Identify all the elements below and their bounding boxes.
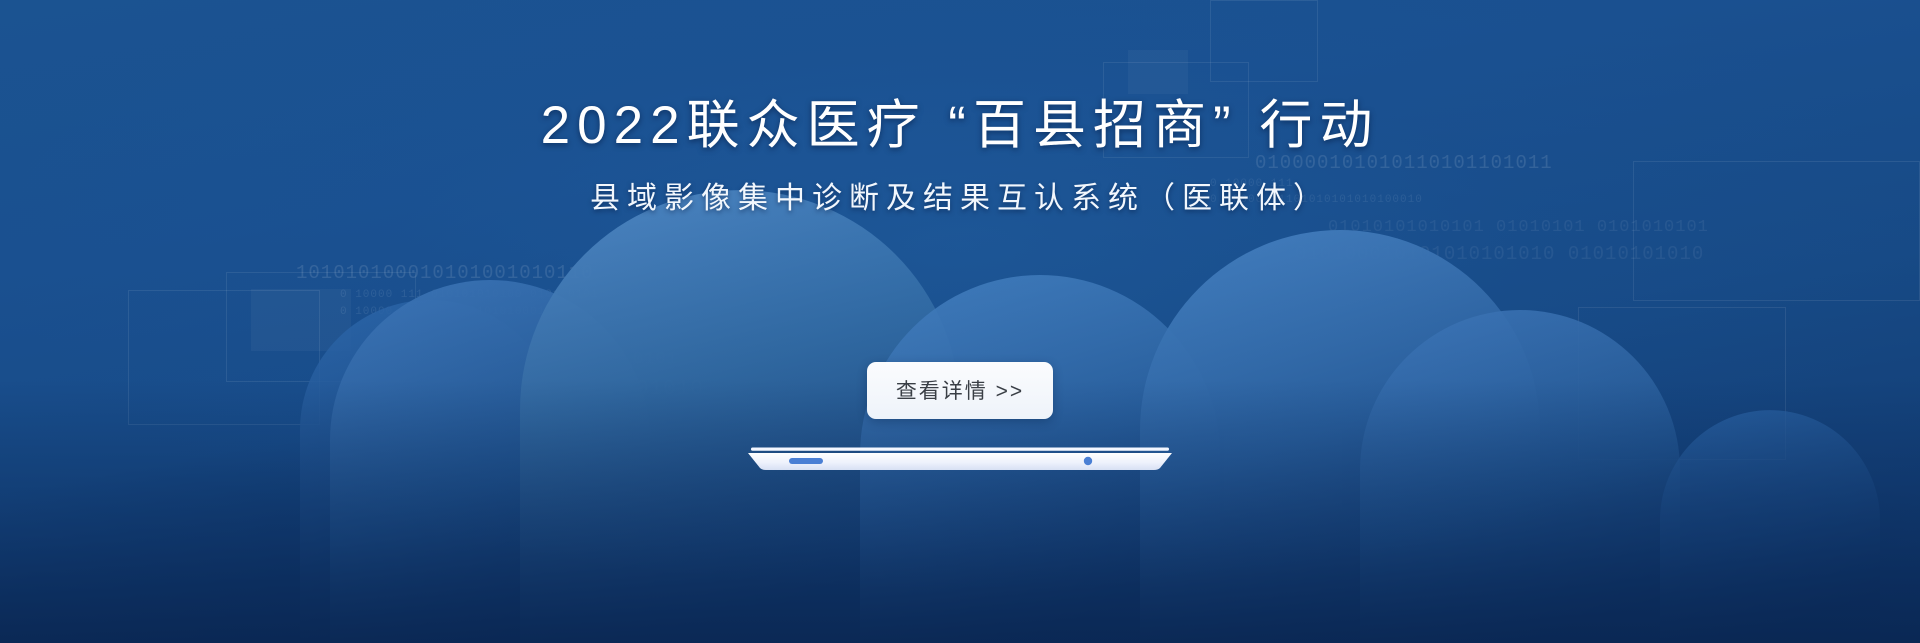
promo-banner: 101010100010101001010110 0 10000 111 010… [0,0,1920,643]
cta-block: 查看详情 >> [0,362,1920,419]
page-subtitle: 县域影像集中诊断及结果互认系统（医联体） [0,181,1920,217]
power-pill-icon [789,458,823,464]
page-title: 2022联众医疗 “百县招商” 行动 [0,96,1920,155]
headline-block: 2022联众医疗 “百县招商” 行动 县域影像集中诊断及结果互认系统（医联体） [0,96,1920,217]
view-details-button[interactable]: 查看详情 >> [867,362,1053,419]
camera-dot-icon [1084,457,1092,465]
laptop-base-illustration [748,446,1172,472]
